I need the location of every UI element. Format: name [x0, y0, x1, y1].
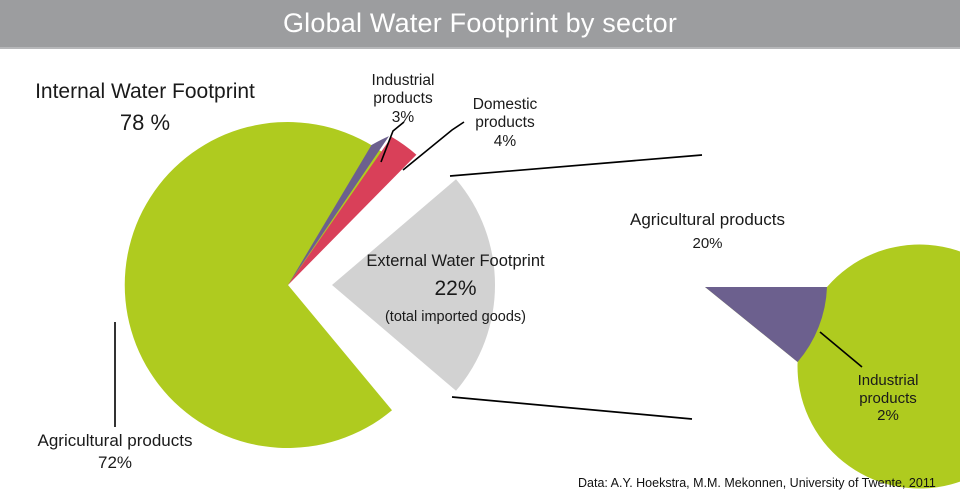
label-external-water-footprint: External Water Footprint 22% (total impo…	[333, 252, 578, 326]
label-agricultural-products-right: Agricultural products 20%	[600, 210, 815, 253]
connector-line-bottom	[452, 397, 692, 419]
agri-right-value: 20%	[600, 235, 815, 253]
label-agricultural-products-left: Agricultural products 72%	[0, 431, 230, 473]
industrial-left-line2: products	[373, 90, 432, 107]
label-domestic-products: Domestic products 4%	[450, 96, 560, 151]
label-internal-water-footprint: Internal Water Footprint 78 %	[10, 80, 280, 136]
industrial-right-line2: products	[859, 390, 917, 407]
agri-left-name: Agricultural products	[38, 431, 193, 450]
industrial-left-value: 3%	[348, 109, 458, 127]
chart-artwork	[0, 0, 960, 500]
internal-title: Internal Water Footprint	[35, 80, 255, 103]
industrial-right-line1: Industrial	[858, 372, 919, 389]
label-industrial-products-left: Industrial products 3%	[348, 72, 458, 127]
external-value: 22%	[333, 277, 578, 302]
agri-left-value: 72%	[0, 453, 230, 473]
connector-line-top	[450, 155, 702, 176]
label-industrial-products-right: Industrial products 2%	[838, 372, 938, 425]
source-attribution: Data: A.Y. Hoekstra, M.M. Mekonnen, Univ…	[578, 476, 936, 491]
pie-slice-agricultural-right	[705, 245, 960, 489]
agri-right-name: Agricultural products	[630, 210, 785, 229]
domestic-line1: Domestic	[473, 96, 538, 113]
external-subtitle: (total imported goods)	[333, 309, 578, 326]
chart-canvas: Global Water Footprint by sector	[0, 0, 960, 500]
external-title: External Water Footprint	[366, 252, 544, 270]
domestic-value: 4%	[450, 133, 560, 151]
industrial-left-line1: Industrial	[372, 72, 435, 89]
internal-value: 78 %	[10, 110, 280, 136]
industrial-right-value: 2%	[838, 407, 938, 425]
domestic-line2: products	[475, 114, 534, 131]
